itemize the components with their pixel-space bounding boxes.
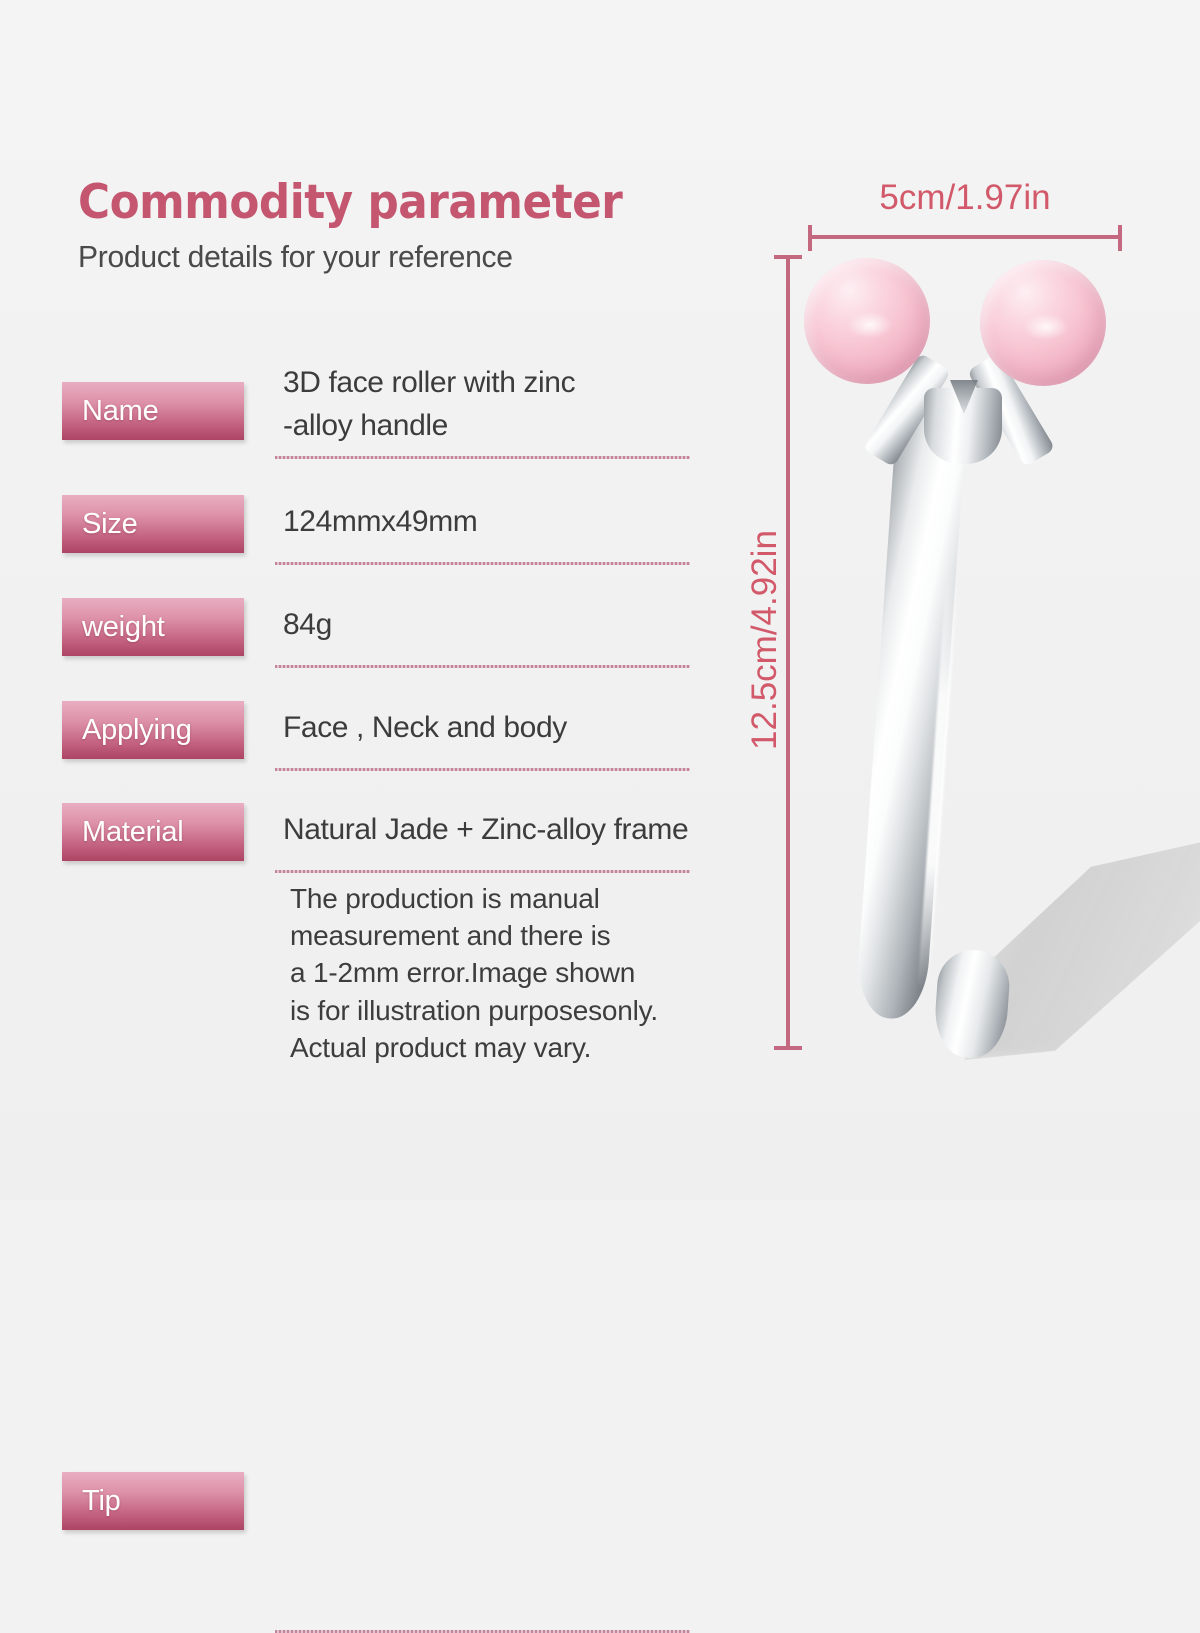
spec-value-name: 3D face roller with zinc -alloy handle: [283, 362, 703, 447]
spec-label-chip-size: Size: [62, 495, 244, 553]
row-separator: [275, 870, 690, 873]
spec-label-chip-weight: weight: [62, 598, 244, 656]
spec-label-text: Material: [62, 816, 184, 849]
width-dimension-cap-right: [1118, 225, 1122, 251]
width-dimension-line: [808, 235, 1122, 239]
spec-value-size: 124mmx49mm: [283, 501, 703, 544]
roller-ball-right: [980, 260, 1106, 386]
tip-line: a 1-2mm error.Image shown: [290, 954, 720, 991]
product-spec-page: Commodity parameter Product details for …: [0, 0, 1200, 1200]
height-dimension-label: 12.5cm/4.92in: [745, 460, 785, 820]
spec-label-text: Tip: [62, 1485, 121, 1518]
spec-label-text: Applying: [62, 714, 192, 747]
spec-label-chip-name: Name: [62, 382, 244, 440]
row-separator: [275, 665, 690, 668]
roller-ball-highlight: [1024, 314, 1068, 340]
roller-handle-tip: [932, 948, 1011, 1061]
spec-value-line: -alloy handle: [283, 405, 703, 448]
spec-row-name: Name 3D face roller with zinc -alloy han…: [0, 366, 730, 480]
tip-line: is for illustration purposesonly.: [290, 992, 720, 1029]
spec-row-weight: weight 84g: [0, 583, 730, 686]
width-dimension-label: 5cm/1.97in: [790, 178, 1140, 218]
spec-label-text: Name: [62, 395, 159, 428]
tip-line: measurement and there is: [290, 917, 720, 954]
page-title: Commodity parameter: [78, 178, 673, 227]
roller-ball-highlight: [848, 312, 892, 338]
width-dimension-cap-left: [808, 225, 812, 251]
spec-label-chip-material: Material: [62, 803, 244, 861]
tip-line: The production is manual: [290, 880, 720, 917]
spec-row-material: Material Natural Jade + Zinc-alloy frame: [0, 788, 730, 890]
page-subtitle: Product details for your reference: [78, 239, 699, 275]
spec-value-material: Natural Jade + Zinc-alloy frame: [283, 809, 703, 852]
spec-value-line: Face , Neck and body: [283, 707, 703, 750]
spec-value-line: Natural Jade + Zinc-alloy frame: [283, 809, 703, 852]
spec-value-line: 124mmx49mm: [283, 501, 703, 544]
title-block: Commodity parameter Product details for …: [78, 178, 718, 275]
spec-value-line: 84g: [283, 604, 703, 647]
roller-ball-left: [804, 258, 930, 384]
roller-handle: [855, 398, 968, 1021]
spec-row-size: Size 124mmx49mm: [0, 480, 730, 583]
tip-line: Actual product may vary.: [290, 1029, 720, 1066]
spec-value-line: 3D face roller with zinc: [283, 362, 703, 405]
face-roller-product: [790, 250, 1140, 1060]
row-separator: [275, 456, 690, 459]
spec-label-chip-tip: Tip: [62, 1472, 244, 1530]
spec-label-text: weight: [62, 611, 165, 644]
spec-value-tip: The production is manual measurement and…: [290, 880, 720, 1066]
spec-row-applying: Applying Face , Neck and body: [0, 686, 730, 788]
row-separator: [275, 768, 690, 771]
spec-value-weight: 84g: [283, 604, 703, 647]
spec-label-text: Size: [62, 508, 138, 541]
product-image-area: 5cm/1.97in 12.5cm/4.92in: [730, 0, 1200, 1200]
spec-label-chip-applying: Applying: [62, 701, 244, 759]
spec-value-applying: Face , Neck and body: [283, 707, 703, 750]
row-separator: [275, 562, 690, 565]
specification-panel: Commodity parameter Product details for …: [0, 0, 730, 1200]
